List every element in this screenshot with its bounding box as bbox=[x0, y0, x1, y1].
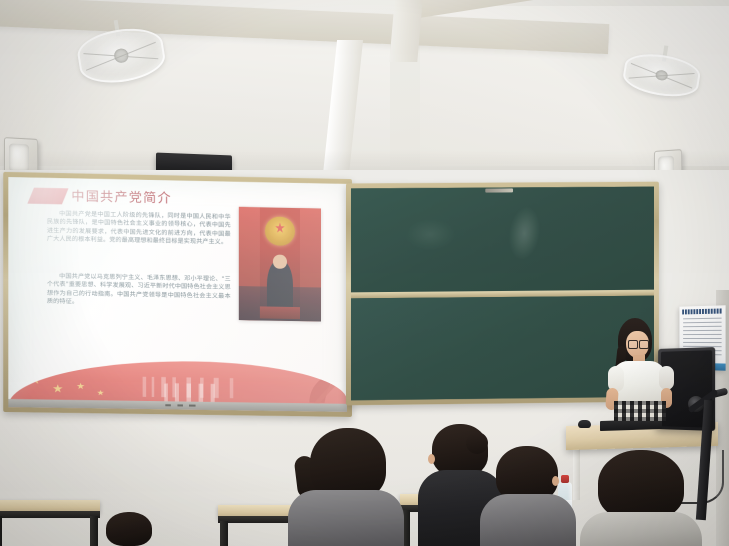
photo-podium bbox=[260, 307, 299, 319]
student bbox=[480, 446, 576, 546]
presenter-skirt bbox=[614, 401, 666, 421]
ceiling bbox=[0, 0, 729, 182]
speaker-grill bbox=[9, 143, 29, 172]
star-icon bbox=[77, 383, 85, 390]
fan-hub bbox=[114, 48, 129, 63]
board-clip bbox=[485, 188, 513, 192]
star-icon bbox=[53, 384, 63, 393]
student-head bbox=[598, 450, 684, 520]
student-body bbox=[580, 512, 702, 546]
board-assembly: 中国共产党简介 中国共产党是中国工人阶级的先锋队，同时是中国人民和中华民族的先锋… bbox=[3, 175, 649, 419]
projected-slide[interactable]: 中国共产党简介 中国共产党是中国工人阶级的先锋队，同时是中国人民和中华民族的先锋… bbox=[8, 177, 347, 412]
glasses-icon bbox=[628, 340, 649, 347]
chalk-smudge bbox=[506, 204, 543, 261]
student bbox=[96, 512, 166, 546]
presenter bbox=[604, 318, 676, 434]
ceiling-beam-drop bbox=[389, 0, 422, 62]
chalk-smudge bbox=[406, 219, 455, 250]
slide-photo bbox=[239, 207, 321, 322]
star-icon bbox=[97, 390, 104, 396]
notice-header bbox=[682, 308, 722, 314]
student-ear bbox=[552, 476, 559, 486]
screen-indicator-dots bbox=[165, 404, 195, 406]
national-emblem-icon bbox=[265, 216, 295, 246]
classroom-scene: 中国共产党简介 中国共产党是中国工人阶级的先锋队，同时是中国人民和中华民族的先锋… bbox=[0, 0, 729, 546]
student bbox=[580, 450, 702, 546]
desk-leg bbox=[0, 516, 2, 546]
desk-edge bbox=[0, 511, 100, 518]
presenter-sleeve-right bbox=[659, 366, 674, 390]
blackboard-panel-top[interactable] bbox=[351, 187, 654, 293]
slide-paragraph-1: 中国共产党是中国工人阶级的先锋队，同时是中国人民和中华民族的先锋队，是中国特色社… bbox=[47, 210, 231, 247]
student-body bbox=[480, 494, 576, 546]
star-icon bbox=[25, 370, 41, 385]
student-body bbox=[288, 490, 404, 546]
slide-title: 中国共产党简介 bbox=[71, 185, 171, 206]
slide-paragraph-2: 中国共产党以马克思列宁主义、毛泽东思想、邓小平理论、"三个代表"重要思想、科学发… bbox=[47, 273, 231, 310]
fan-hub bbox=[655, 69, 668, 81]
student-desk bbox=[0, 500, 100, 546]
photo-speaker-head bbox=[273, 255, 286, 269]
projection-screen-frame: 中国共产党简介 中国共产党是中国工人阶级的先锋队，同时是中国人民和中华民族的先锋… bbox=[3, 172, 352, 417]
desk-leg bbox=[220, 521, 228, 546]
student bbox=[288, 428, 404, 546]
student-ear bbox=[428, 454, 435, 464]
student-head bbox=[106, 512, 152, 546]
mouse[interactable] bbox=[578, 420, 591, 428]
slide-title-accent bbox=[27, 188, 68, 205]
